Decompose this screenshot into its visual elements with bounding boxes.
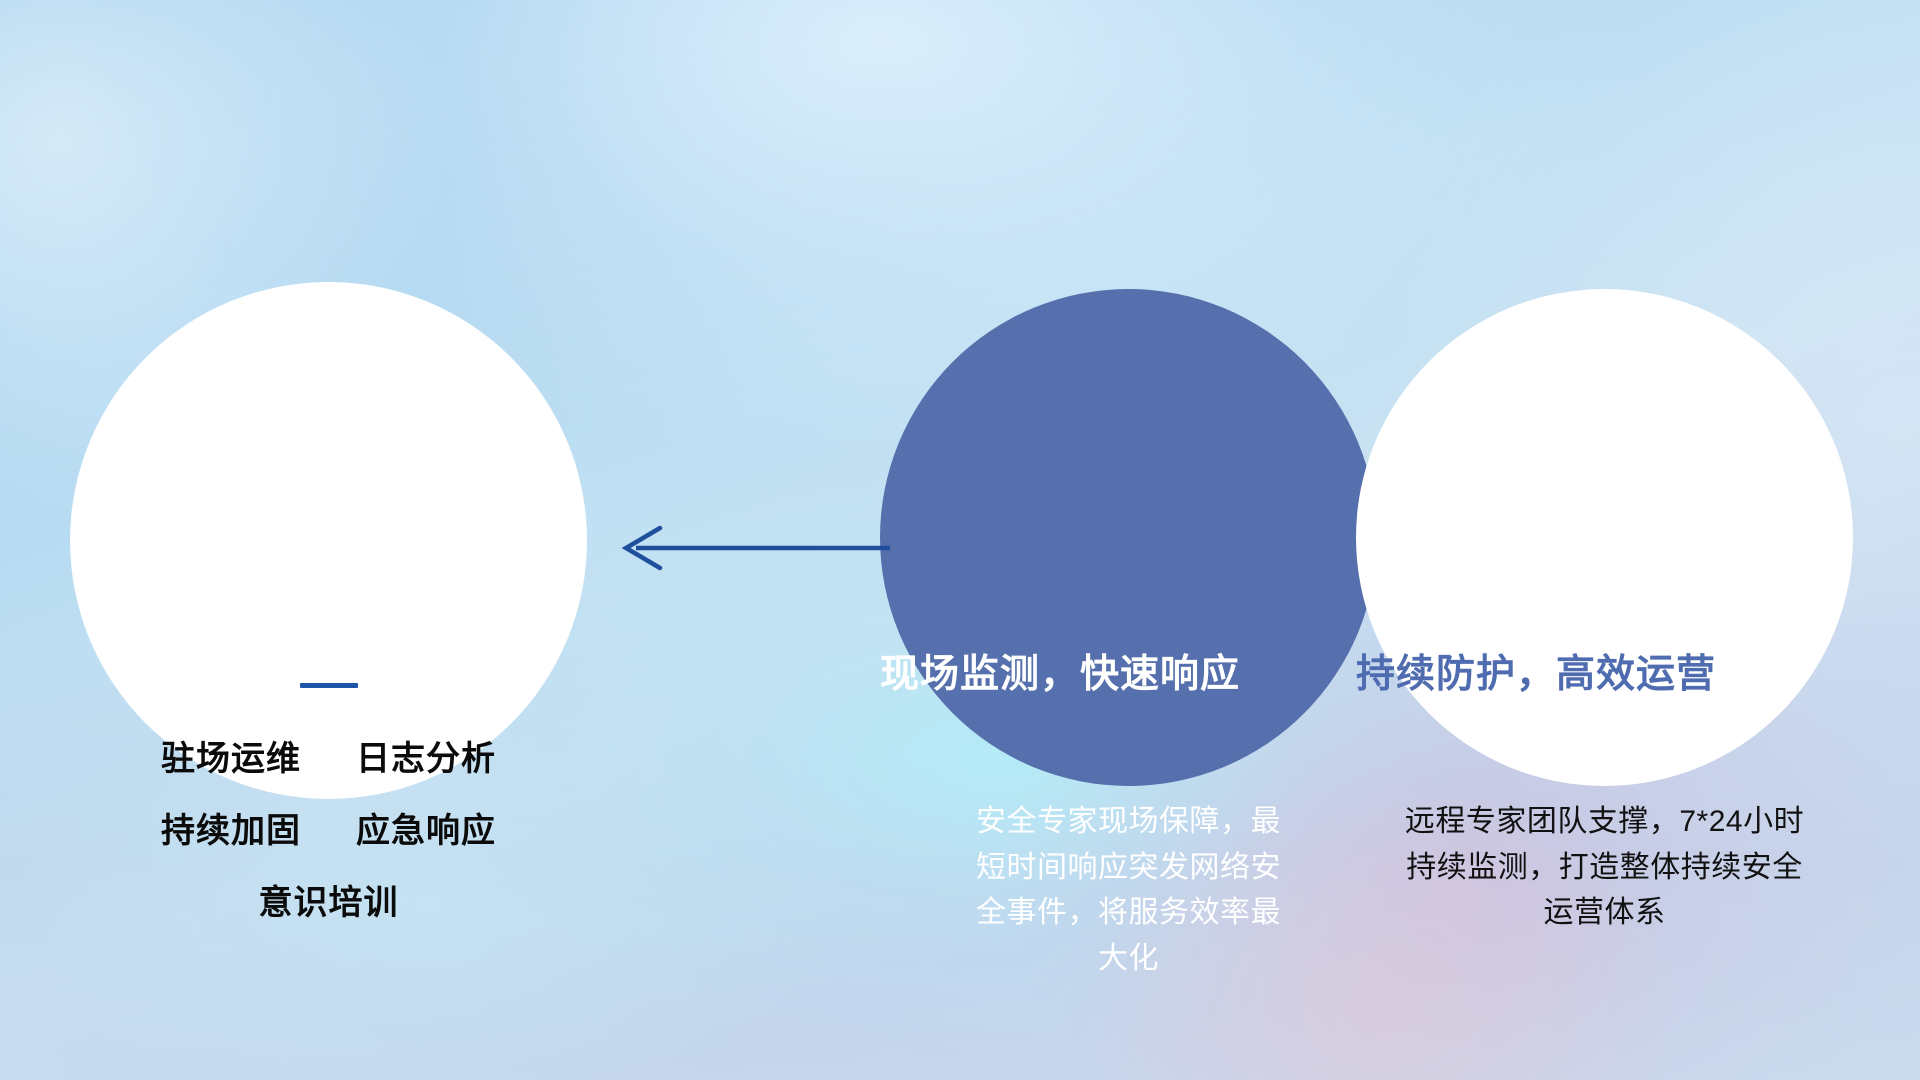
capability-item[interactable]: 意识培训 — [259, 886, 399, 920]
onsite-monitoring-circle[interactable]: 现场监测，快速响应 安全专家现场保障，最短时间响应突发网络安全事件，将服务效率最… — [880, 289, 1377, 786]
capability-item[interactable]: 驻场运维 — [161, 742, 301, 776]
continuous-protection-circle[interactable]: 持续防护，高效运营 远程专家团队支撑，7*24小时持续监测，打造整体持续安全运营… — [1356, 289, 1853, 786]
continuous-protection-title: 持续防护，高效运营 — [1356, 654, 1853, 697]
capability-row: 意识培训 — [70, 886, 587, 920]
capability-list: 驻场运维 日志分析 持续加固 应急响应 意识培训 — [70, 742, 587, 920]
service-capability-circle[interactable]: 驻场运维 日志分析 持续加固 应急响应 意识培训 — [70, 282, 587, 799]
capability-item[interactable]: 持续加固 — [161, 814, 301, 848]
capability-row: 持续加固 应急响应 — [70, 814, 587, 848]
continuous-protection-body: 远程专家团队支撑，7*24小时持续监测，打造整体持续安全运营体系 — [1395, 799, 1815, 936]
slide-canvas: 驻场运维 日志分析 持续加固 应急响应 意识培训 现场监测，快速响应 安全专家现… — [0, 0, 1920, 1080]
onsite-monitoring-title: 现场监测，快速响应 — [880, 654, 1377, 697]
onsite-monitoring-body: 安全专家现场保障，最短时间响应突发网络安全事件，将服务效率最大化 — [964, 799, 1294, 981]
capability-item[interactable]: 应急响应 — [356, 814, 496, 848]
divider-line — [300, 683, 358, 688]
capability-row: 驻场运维 日志分析 — [70, 742, 587, 776]
capability-item[interactable]: 日志分析 — [356, 742, 496, 776]
leftward-arrow — [600, 516, 890, 580]
